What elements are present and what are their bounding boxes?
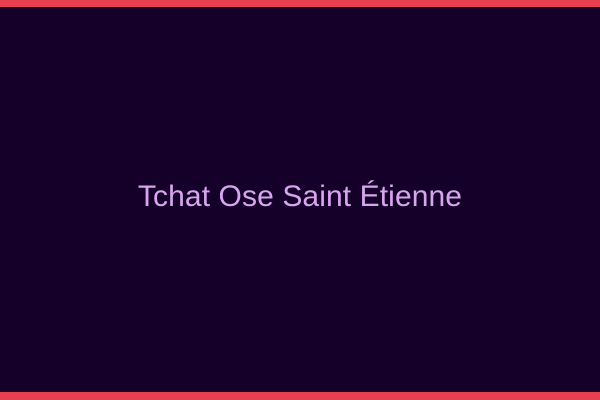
bottom-accent-band xyxy=(0,392,600,400)
caption-text: Tchat Ose Saint Étienne xyxy=(138,179,462,215)
placeholder-canvas: Tchat Ose Saint Étienne xyxy=(0,0,600,400)
caption-stage: Tchat Ose Saint Étienne xyxy=(0,7,600,392)
top-accent-band xyxy=(0,0,600,7)
